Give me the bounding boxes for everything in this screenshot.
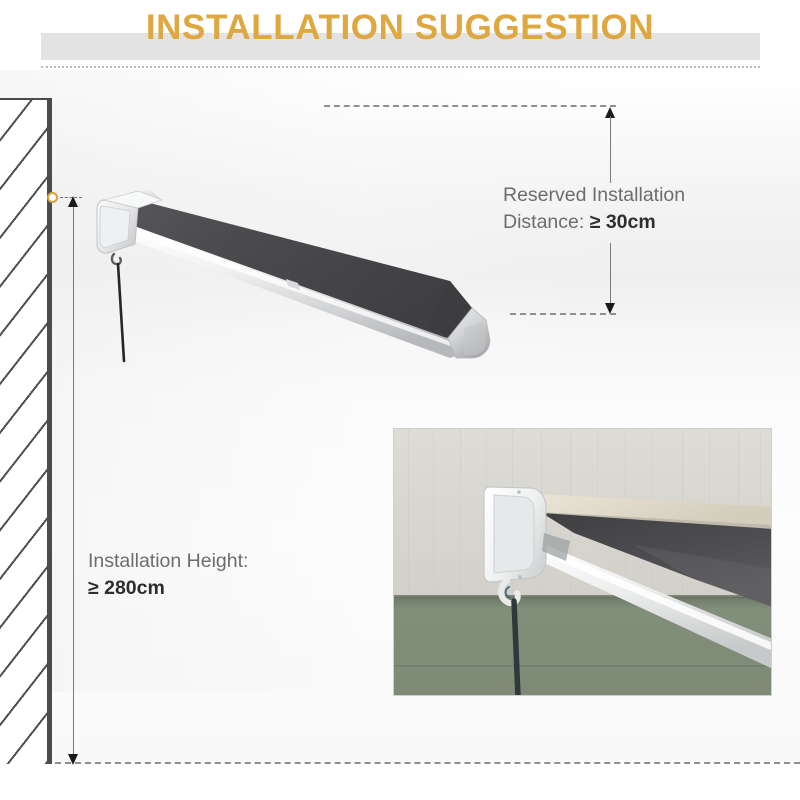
wall-hatch-pattern xyxy=(0,100,47,764)
awning-hook-icon xyxy=(112,254,121,264)
awning-right-endcap-shadow xyxy=(464,322,486,355)
installation-suggestion-diagram: INSTALLATION SUGGESTION Reserved Install… xyxy=(0,0,800,800)
photo-lower-wall xyxy=(394,597,772,696)
anchor-leader-line xyxy=(60,197,82,198)
awning-left-endcap-face xyxy=(100,206,130,247)
header-divider xyxy=(41,66,760,68)
mounting-anchor-marker-icon xyxy=(47,192,58,203)
photo-wall-trim-line xyxy=(394,595,772,598)
installation-height-dimension-line xyxy=(73,205,74,761)
reserved-distance-value: ≥ 30cm xyxy=(590,211,656,233)
retractable-awning-illustration xyxy=(90,178,540,363)
installation-height-line1: Installation Height: xyxy=(88,548,248,575)
installation-height-value: ≥ 280cm xyxy=(88,575,248,602)
awning-operating-cord xyxy=(118,264,124,361)
wall-section xyxy=(0,98,52,764)
reserved-distance-top-leader xyxy=(324,105,616,107)
ground-reference-line xyxy=(55,762,800,764)
photo-wall-groove xyxy=(394,665,772,667)
awning-canopy-fabric xyxy=(132,200,472,338)
photo-endcap-screw-bottom xyxy=(518,575,522,579)
photo-endcap-screw-top xyxy=(517,490,521,494)
installation-height-annotation: Installation Height: ≥ 280cm xyxy=(88,548,248,602)
page-title: INSTALLATION SUGGESTION xyxy=(0,8,800,48)
photo-endcap-inset-panel xyxy=(494,495,534,573)
header: INSTALLATION SUGGESTION xyxy=(0,0,800,70)
reserved-distance-dimension-line-upper xyxy=(610,116,611,183)
installation-closeup-photo xyxy=(393,428,772,696)
reserved-distance-dimension-line-lower xyxy=(610,243,611,305)
